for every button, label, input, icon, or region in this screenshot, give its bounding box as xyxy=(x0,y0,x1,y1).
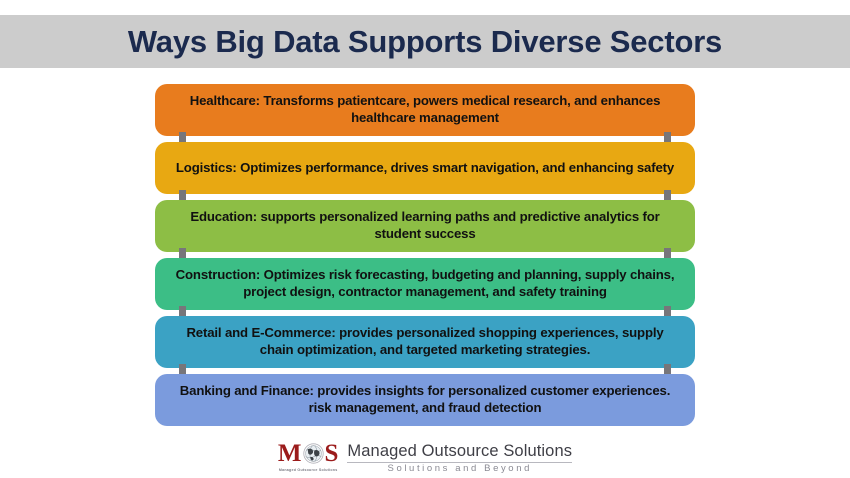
sector-bar-retail-ecommerce[interactable]: Retail and E-Commerce: provides personal… xyxy=(155,316,695,368)
sector-bar-stack: Healthcare: Transforms patientcare, powe… xyxy=(155,84,695,426)
logo-inner: M S Managed Outsource Solutions xyxy=(278,440,572,474)
page-title: Ways Big Data Supports Diverse Sectors xyxy=(128,24,722,60)
infographic-canvas: Ways Big Data Supports Diverse Sectors H… xyxy=(0,0,850,478)
sector-bar-label: Healthcare: Transforms patientcare, powe… xyxy=(169,93,681,127)
sector-bar-logistics[interactable]: Logistics: Optimizes performance, drives… xyxy=(155,142,695,194)
sector-bar-banking-finance[interactable]: Banking and Finance: provides insights f… xyxy=(155,374,695,426)
footer-logo: M S Managed Outsource Solutions xyxy=(0,436,850,478)
logo-company-name: Managed Outsource Solutions xyxy=(347,442,572,461)
sector-bar-label: Logistics: Optimizes performance, drives… xyxy=(169,160,681,177)
logo-mark: M S Managed Outsource Solutions xyxy=(278,440,339,472)
logo-letter-m: M xyxy=(278,441,302,466)
sector-bar-label: Banking and Finance: provides insights f… xyxy=(169,383,681,417)
sector-bar-healthcare[interactable]: Healthcare: Transforms patientcare, powe… xyxy=(155,84,695,136)
logo-tagline: Solutions and Beyond xyxy=(347,464,572,474)
sector-bar-label: Construction: Optimizes risk forecasting… xyxy=(169,267,681,301)
logo-wordmark: Managed Outsource Solutions Solutions an… xyxy=(347,440,572,474)
sector-bar-construction[interactable]: Construction: Optimizes risk forecasting… xyxy=(155,258,695,310)
sector-bar-label: Education: supports personalized learnin… xyxy=(169,209,681,243)
logo-mark-row: M S xyxy=(278,441,339,466)
sector-bar-education[interactable]: Education: supports personalized learnin… xyxy=(155,200,695,252)
sector-bar-label: Retail and E-Commerce: provides personal… xyxy=(169,325,681,359)
logo-letter-s: S xyxy=(325,441,339,466)
globe-icon xyxy=(303,443,324,464)
title-banner: Ways Big Data Supports Diverse Sectors xyxy=(0,15,850,68)
logo-mark-microtext: Managed Outsource Solutions xyxy=(279,468,338,472)
